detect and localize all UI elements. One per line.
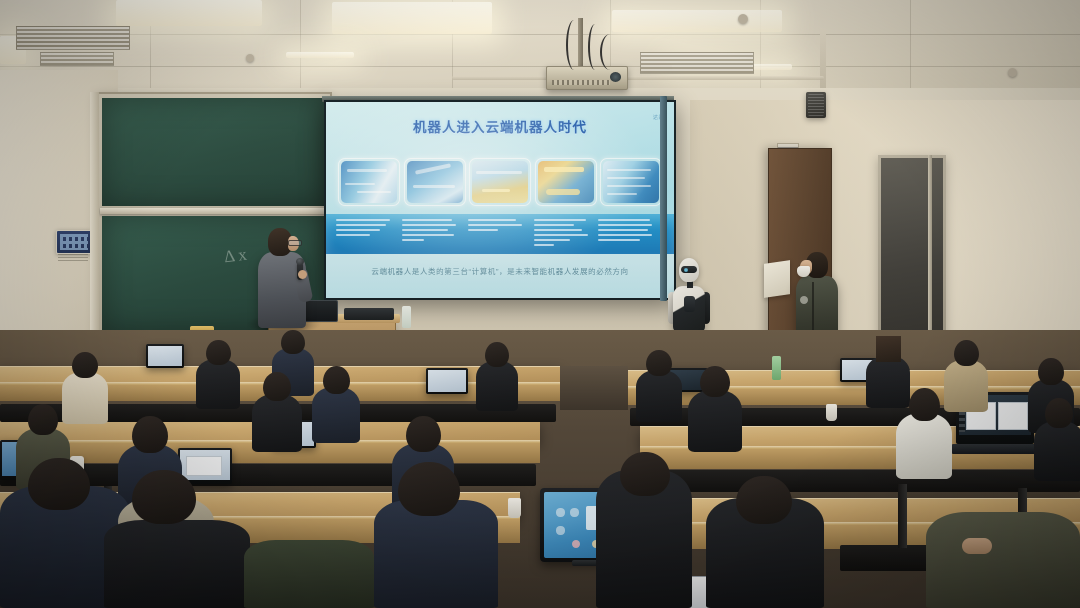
thumb-logistics-robots [469,158,531,206]
thumb-industrial-robots [338,158,400,206]
laptop-keyboard[interactable] [952,444,1040,454]
ceiling-air-vent [640,52,754,74]
podium-keyboard[interactable] [344,308,394,320]
ceiling-sprinkler [1008,68,1017,77]
bench-leg [898,484,907,548]
attendee-row1-1-head [72,352,98,378]
slide-caption-zone: 云端机器人是人类的第三台“计算机”，是未来智能机器人发展的必然方向 [326,254,674,298]
chalk-writing: Δ x [223,245,248,268]
paper-cup [826,404,837,421]
attendee-row2-4 [688,390,742,452]
ceiling-sprinkler [738,14,748,24]
jacket-logo [800,296,808,304]
tablet-app-icon [556,508,565,517]
thumb-cloud-network [600,158,662,206]
tablet-app-icon [570,508,579,517]
attendee-row3-2-head [406,416,441,452]
ceiling-light-panel [612,10,782,32]
projector-vent [552,80,610,85]
foreground-attendee [374,500,498,608]
foreground-attendee [104,520,250,608]
attendee-row1-2-head [206,340,231,365]
document-window [186,456,222,476]
foreground-attendee-head [132,470,196,524]
attendee-row1-6-head [876,336,901,362]
ceiling-air-vent [40,52,114,66]
window-mullion [928,155,932,355]
water-bottle [402,306,411,328]
attendee-row1-6 [866,356,910,408]
projector-cable [600,34,620,70]
attendee-row3-3-head [1045,398,1073,428]
tablet-app-icon [572,540,580,548]
foreground-attendee-head [620,452,670,496]
thumb-autonomous-vehicles [535,158,597,206]
attendee-row2-5 [896,413,952,479]
student-laptop[interactable] [146,344,184,368]
paper-cup [508,498,521,518]
screen-side-bracket [660,96,667,301]
attendee-row2-2 [252,394,302,452]
presenter-hand [298,270,307,279]
attendee-row2-3-head [323,366,350,394]
foreground-attendee-head [736,476,792,524]
chalkboard-side-panel [90,92,99,332]
glasses-icon [288,240,302,246]
attendee-row2-4-head [700,366,730,397]
projection-screen: 机器人进入云端机器人时代 达闼 [324,100,676,300]
band-column [336,219,394,239]
ceiling-conduit [452,76,824,80]
slide-caption: 云端机器人是人类的第三台“计算机”，是未来智能机器人发展的必然方向 [326,266,674,277]
attendee-row1-7 [944,360,988,412]
band-column [534,219,592,249]
ceiling-sprinkler [246,54,254,62]
face-mask-icon [797,266,810,277]
microphone-head [296,258,304,265]
wall-speaker [806,92,826,118]
thumb-service-robots [404,158,466,206]
ceiling-light-panel [332,2,492,34]
attendee-row2-2-head [263,372,291,401]
wall-panel-label [58,254,88,262]
attendee-row1-5 [636,370,682,422]
attendee-row1-4 [476,361,518,411]
wall-control-panel[interactable] [56,230,92,254]
attendee-row1-1 [62,372,108,424]
bench-seat [646,470,1080,492]
attendee-row2-3 [312,387,360,443]
robot-eye-icon [684,268,688,272]
projector-cable [566,20,582,70]
attendee-hand [962,538,992,554]
presentation-slide: 机器人进入云端机器人时代 达闼 [326,102,674,298]
student-laptop[interactable] [426,368,468,394]
attendee-row1-5-head [646,350,672,376]
attendee-row1-2 [196,359,240,409]
band-column [598,219,656,244]
ceiling-air-vent [16,26,130,50]
foreground-attendee-head [28,458,90,510]
attendee-row2-5-head [909,388,940,421]
slide-thumbnail-row [338,158,662,206]
document-window [998,402,1028,430]
attendee-row1-7-head [954,340,979,366]
attendee-row3-3 [1034,421,1080,481]
water-bottle [772,356,781,380]
projector-lens [610,72,621,82]
slide-text-band [326,214,674,254]
lecture-hall-screenshot: Δ x 机器人进入云端机器人时代 达闼 [0,0,1080,608]
attendee-row1-3-head [281,330,305,354]
ceiling-light-strip [286,52,354,58]
band-column [468,219,526,234]
tablet-app-icon [556,526,565,535]
robot-chest-panel [684,296,695,312]
attendee-row3-1-head [132,416,168,453]
slide-title: 机器人进入云端机器人时代 [326,116,674,136]
attendee-row1-8-head [1038,358,1064,385]
center-aisle [560,366,628,410]
foreground-attendee [244,540,374,608]
attendee-row1-4-head [485,342,509,367]
foreground-attendee [926,512,1080,608]
attendee-row2-1-head [28,404,58,435]
foreground-attendee-head [398,462,460,516]
band-column [402,219,460,244]
door-posted-paper [764,260,790,298]
ceiling-light-panel [116,0,262,26]
